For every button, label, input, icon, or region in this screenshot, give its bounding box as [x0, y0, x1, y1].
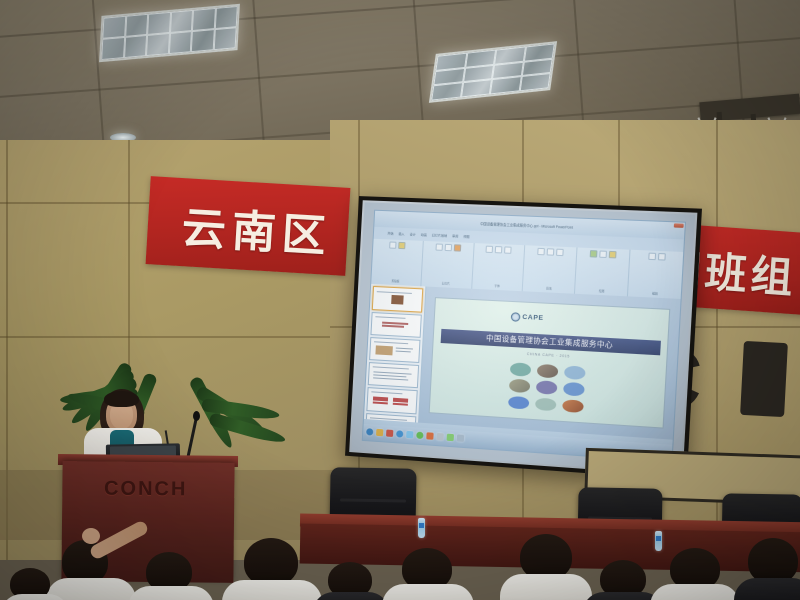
slide-thumbnail-3[interactable] [369, 337, 421, 363]
audience-member-2 [128, 552, 214, 600]
ribbon-group-clipboard-label: 剪贴板 [391, 279, 399, 283]
audience-member-8 [650, 548, 740, 600]
audience-member-4 [312, 562, 390, 600]
slide-thumbnail-panel[interactable] [363, 284, 426, 422]
tray-icon[interactable] [456, 434, 464, 442]
tab-insert[interactable]: 插入 [398, 232, 404, 236]
mail-icon[interactable] [406, 431, 413, 439]
water-bottle-1 [418, 518, 425, 538]
slide-circle-3 [563, 365, 585, 379]
audience-member-9 [734, 538, 800, 600]
close-icon[interactable] [674, 224, 684, 229]
slide-circle-7 [508, 396, 529, 410]
app-icon[interactable] [446, 434, 454, 442]
browser-icon[interactable] [396, 430, 403, 438]
tab-design[interactable]: 设计 [409, 232, 415, 236]
wall-logo-letter-partial [740, 341, 788, 417]
tab-slideshow[interactable]: 幻灯片放映 [432, 233, 447, 238]
projection-screen: 中国设备管理协会工业集成服务中心.ppt - Microsoft PowerPo… [345, 196, 702, 480]
cape-logo-text: CAPE [522, 314, 544, 322]
audience-member-5 [382, 548, 474, 600]
slide-circle-8 [535, 397, 557, 411]
doc-icon[interactable] [436, 433, 443, 441]
ribbon-group-editing-label: 编辑 [652, 292, 658, 296]
slide-thumbnail-1[interactable] [371, 286, 423, 312]
screen-surface: 中国设备管理协会工业集成服务中心.ppt - Microsoft PowerPo… [349, 200, 697, 476]
slide-thumbnail-5[interactable] [366, 387, 418, 414]
start-icon[interactable] [366, 428, 373, 435]
tab-review[interactable]: 审阅 [452, 234, 458, 238]
slide-thumbnail-4[interactable] [367, 362, 419, 388]
chat-icon[interactable] [416, 432, 423, 440]
slide-circle-5 [536, 381, 558, 395]
office-icon[interactable] [426, 432, 433, 440]
current-slide[interactable]: CAPE 中国设备管理协会工业集成服务中心 CHINA CAPE · 2015 [429, 297, 671, 429]
audience-member-3 [222, 538, 322, 600]
cape-logo-mark-icon [511, 313, 521, 323]
slide-circle-6 [563, 382, 585, 396]
media-icon[interactable] [386, 430, 393, 438]
slide-circle-9 [562, 399, 584, 413]
slide-title-text: 中国设备管理协会工业集成服务中心 [486, 333, 613, 350]
cape-logo: CAPE [511, 313, 544, 324]
powerpoint-title-text: 中国设备管理协会工业集成服务中心.ppt - Microsoft PowerPo… [480, 221, 573, 230]
audience-member-6 [500, 534, 592, 600]
ribbon-group-drawing[interactable]: 绘图 [575, 247, 631, 297]
projected-image: 中国设备管理协会工业集成服务中心.ppt - Microsoft PowerPo… [351, 202, 695, 473]
slide-thumbnail-2[interactable] [370, 312, 422, 338]
tab-view[interactable]: 视图 [463, 235, 469, 239]
banner-left-text: 云南区 [180, 192, 358, 266]
tab-animations[interactable]: 动画 [421, 233, 427, 237]
slide-circle-2 [537, 364, 559, 378]
ribbon-group-drawing-label: 绘图 [599, 289, 605, 293]
microphone-icon [193, 411, 200, 421]
tab-home[interactable]: 开始 [387, 231, 393, 235]
powerpoint-window[interactable]: 中国设备管理协会工业集成服务中心.ppt - Microsoft PowerPo… [361, 210, 686, 462]
ribbon-group-font-label: 字体 [494, 284, 500, 288]
ribbon-group-font[interactable]: 字体 [472, 243, 526, 292]
ribbon-group-paragraph[interactable]: 段落 [523, 245, 578, 294]
slide-circle-1 [510, 362, 531, 376]
audience-member-10 [0, 568, 70, 600]
conference-room-photo: 云南区 期班组 C 中国设备管理协会工业集成服务中心.ppt - Microso… [0, 0, 800, 600]
ribbon-group-clipboard[interactable]: 剪贴板 [371, 239, 424, 287]
ribbon-group-slides[interactable]: 幻灯片 [421, 241, 474, 289]
ribbon-group-paragraph-label: 段落 [546, 287, 552, 291]
slide-editing-area[interactable]: CAPE 中国设备管理协会工业集成服务中心 CHINA CAPE · 2015 [419, 287, 681, 440]
slide-circle-4 [509, 379, 530, 393]
presenter-fringe [104, 391, 139, 407]
powerpoint-workspace: CAPE 中国设备管理协会工业集成服务中心 CHINA CAPE · 2015 [363, 284, 681, 439]
folder-icon[interactable] [376, 429, 383, 436]
slide-circle-grid [508, 362, 585, 413]
ribbon-group-slides-label: 幻灯片 [442, 282, 450, 286]
audience-hand [82, 528, 100, 544]
podium-logo-text: CONCH [104, 478, 188, 502]
ribbon-group-editing[interactable]: 编辑 [628, 250, 683, 300]
